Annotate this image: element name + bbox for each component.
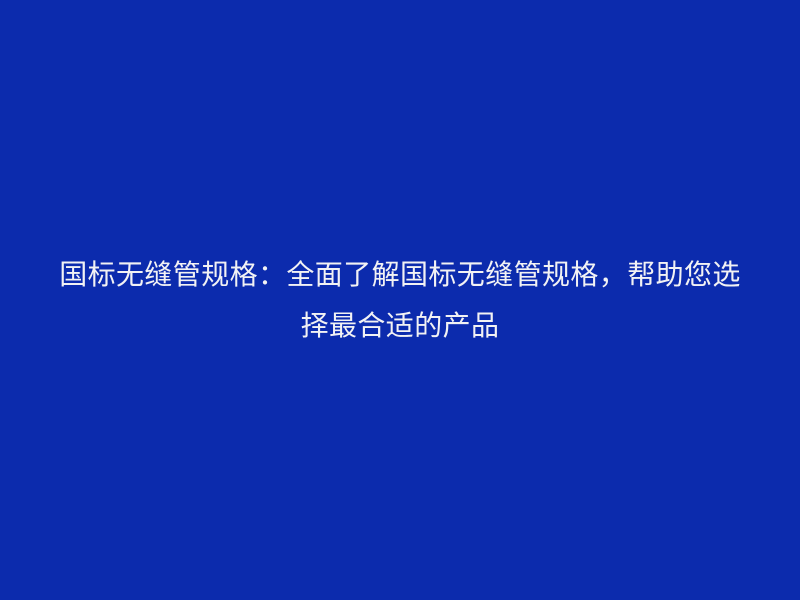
page-title: 国标无缝管规格：全面了解国标无缝管规格，帮助您选择最合适的产品: [55, 249, 745, 351]
title-block: 国标无缝管规格：全面了解国标无缝管规格，帮助您选择最合适的产品: [55, 249, 745, 351]
title-slide: 国标无缝管规格：全面了解国标无缝管规格，帮助您选择最合适的产品: [0, 0, 800, 600]
